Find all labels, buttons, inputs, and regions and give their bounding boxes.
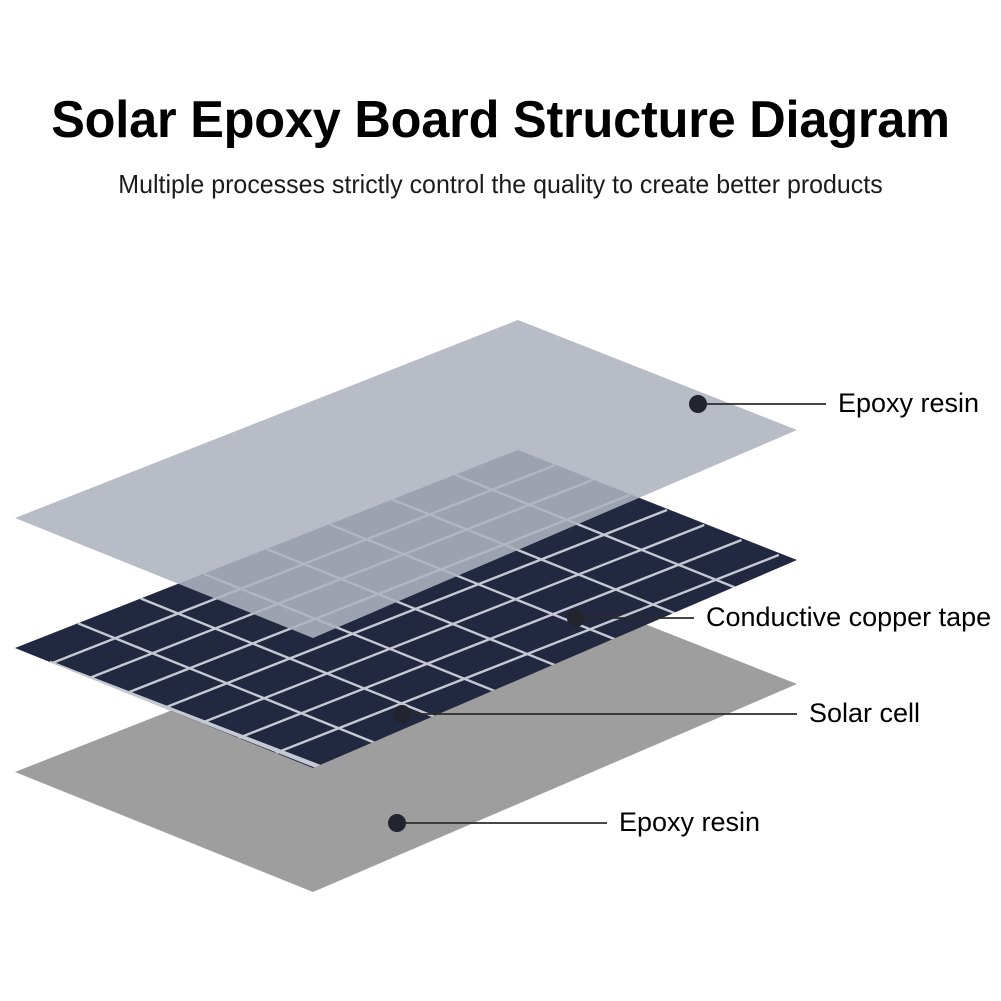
callout-label-solar-cell: Solar cell	[809, 698, 920, 728]
callout-label-epoxy-resin-top: Epoxy resin	[838, 388, 979, 418]
leader-dot	[388, 814, 406, 832]
leader-dot	[689, 395, 707, 413]
callout-label-conductive-copper-tape: Conductive copper tape	[706, 602, 991, 632]
leader-dot	[393, 705, 411, 723]
leader-dot	[567, 609, 585, 627]
layer-stack-diagram: Epoxy resin Conductive copper tape Solar…	[0, 0, 1001, 1001]
diagram-page: Solar Epoxy Board Structure Diagram Mult…	[0, 0, 1001, 1001]
callout-label-epoxy-resin-bottom: Epoxy resin	[619, 807, 760, 837]
